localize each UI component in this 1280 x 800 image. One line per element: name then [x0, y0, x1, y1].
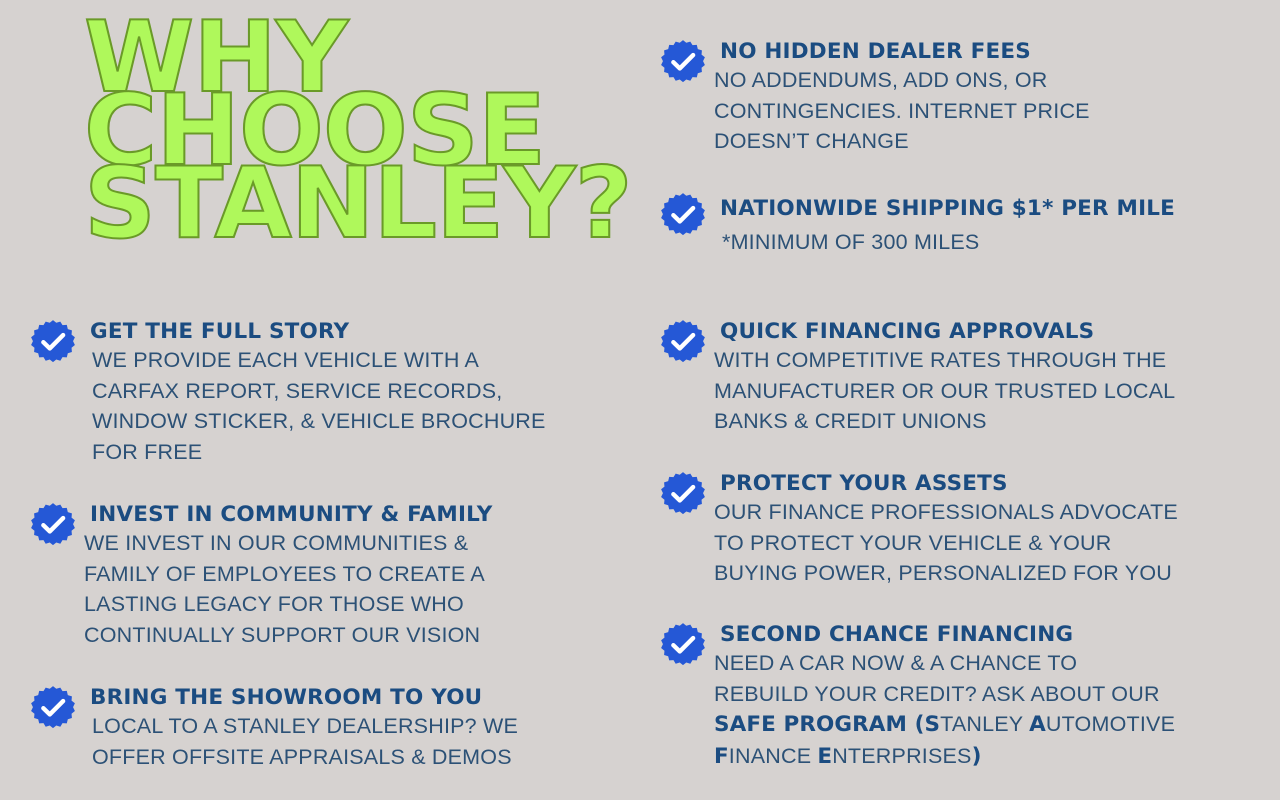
infographic-page: WHY CHOOSE STANLEY? GET THE FULL STORY W… [0, 0, 1280, 800]
check-badge-icon [660, 39, 706, 85]
safe-acronym-bold-2: A [1029, 712, 1046, 737]
benefit-heading: NATIONWIDE SHIPPING $1* PER MILE [714, 191, 1250, 227]
benefit-heading: NO HIDDEN DEALER FEES [714, 38, 1250, 65]
benefit-description-line-2: REBUILD YOUR CREDIT? ASK ABOUT OUR [714, 682, 1160, 706]
benefit-heading: BRING THE SHOWROOM TO YOU [84, 684, 610, 711]
page-title-text: WHY CHOOSE STANLEY? [84, 22, 614, 241]
benefit-heading: GET THE FULL STORY [84, 318, 610, 345]
safe-acronym-plain-3: INANCE [729, 744, 818, 768]
safe-acronym-plain-1: TANLEY [940, 712, 1029, 736]
check-badge-icon [660, 192, 706, 238]
benefit-item-protect-your-assets: PROTECT YOUR ASSETS OUR FINANCE PROFESSI… [660, 470, 1250, 589]
benefit-heading: INVEST IN COMMUNITY & FAMILY [84, 501, 610, 528]
benefit-description: OUR FINANCE PROFESSIONALS ADVOCATE TO PR… [714, 497, 1250, 589]
benefit-item-invest-in-community-and-family: INVEST IN COMMUNITY & FAMILY WE INVEST I… [30, 501, 610, 650]
benefit-item-bring-the-showroom-to-you: BRING THE SHOWROOM TO YOU LOCAL TO A STA… [30, 684, 610, 772]
safe-acronym-bold-5: ) [972, 744, 982, 769]
check-badge-icon [30, 502, 76, 548]
safe-acronym-plain-4: NTERPRISES [832, 744, 971, 768]
right-column: NO HIDDEN DEALER FEES NO ADDENDUMS, ADD … [648, 0, 1280, 800]
benefit-description: WE INVEST IN OUR COMMUNITIES & FAMILY OF… [84, 528, 610, 650]
benefit-description: WITH COMPETITIVE RATES THROUGH THE MANUF… [714, 345, 1250, 437]
safe-acronym-bold-3: F [714, 744, 729, 769]
benefit-item-nationwide-shipping: NATIONWIDE SHIPPING $1* PER MILE *MINIMU… [660, 191, 1250, 258]
benefit-item-second-chance-financing: SECOND CHANCE FINANCING NEED A CAR NOW &… [660, 621, 1250, 772]
benefit-heading: PROTECT YOUR ASSETS [714, 470, 1250, 497]
benefit-item-no-hidden-dealer-fees: NO HIDDEN DEALER FEES NO ADDENDUMS, ADD … [660, 38, 1250, 157]
benefit-item-get-the-full-story: GET THE FULL STORY WE PROVIDE EACH VEHIC… [30, 318, 610, 467]
check-badge-icon [30, 685, 76, 731]
safe-acronym-bold-4: E [817, 744, 832, 769]
benefit-item-quick-financing-approvals: QUICK FINANCING APPROVALS WITH COMPETITI… [660, 318, 1250, 437]
check-badge-icon [660, 319, 706, 365]
check-badge-icon [30, 319, 76, 365]
benefit-heading: SECOND CHANCE FINANCING [714, 621, 1250, 648]
benefit-description: *MINIMUM OF 300 MILES [714, 227, 1250, 258]
benefit-description: LOCAL TO A STANLEY DEALERSHIP? WE OFFER … [84, 711, 610, 772]
safe-acronym-plain-2: UTOMOTIVE [1046, 712, 1175, 736]
check-badge-icon [660, 471, 706, 517]
safe-acronym-bold-1: SAFE PROGRAM (S [714, 712, 940, 737]
benefit-description-line-1: NEED A CAR NOW & A CHANCE TO [714, 651, 1077, 675]
benefit-description: NEED A CAR NOW & A CHANCE TOREBUILD YOUR… [714, 648, 1250, 772]
left-column: WHY CHOOSE STANLEY? GET THE FULL STORY W… [0, 0, 620, 800]
page-title: WHY CHOOSE STANLEY? [84, 22, 604, 241]
check-badge-icon [660, 622, 706, 668]
benefit-description: WE PROVIDE EACH VEHICLE WITH A CARFAX RE… [84, 345, 610, 467]
benefit-description: NO ADDENDUMS, ADD ONS, OR CONTINGENCIES.… [714, 65, 1250, 157]
benefit-heading: QUICK FINANCING APPROVALS [714, 318, 1250, 345]
